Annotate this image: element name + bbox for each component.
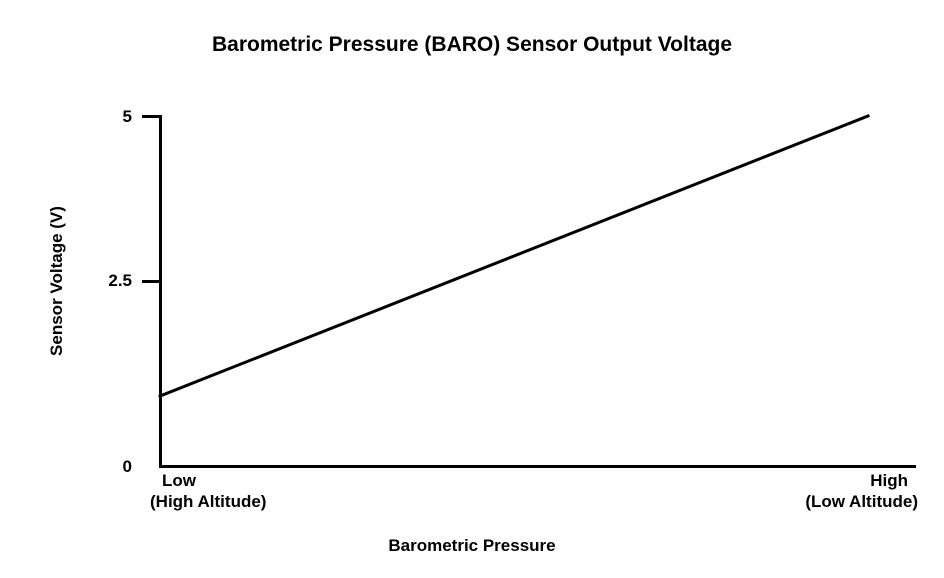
x-axis-category-low: Low (High Altitude): [150, 470, 410, 512]
y-axis-tick-label-5: 5: [60, 108, 132, 125]
x-axis-category-high-main: High: [560, 470, 918, 491]
x-axis-category-low-main: Low: [150, 470, 410, 491]
x-axis-category-high-sub: (Low Altitude): [560, 491, 918, 512]
y-axis-title: Sensor Voltage (V): [48, 181, 65, 381]
y-axis-tick-label-2point5: 2.5: [60, 272, 132, 289]
data-line-baro-output: [160, 116, 868, 396]
y-axis-tick-label-0: 0: [60, 458, 132, 475]
x-axis-title: Barometric Pressure: [0, 536, 944, 556]
x-axis-category-high: High (Low Altitude): [560, 470, 918, 512]
x-axis-category-low-sub: (High Altitude): [150, 491, 410, 512]
chart-canvas: Barometric Pressure (BARO) Sensor Output…: [0, 0, 944, 578]
